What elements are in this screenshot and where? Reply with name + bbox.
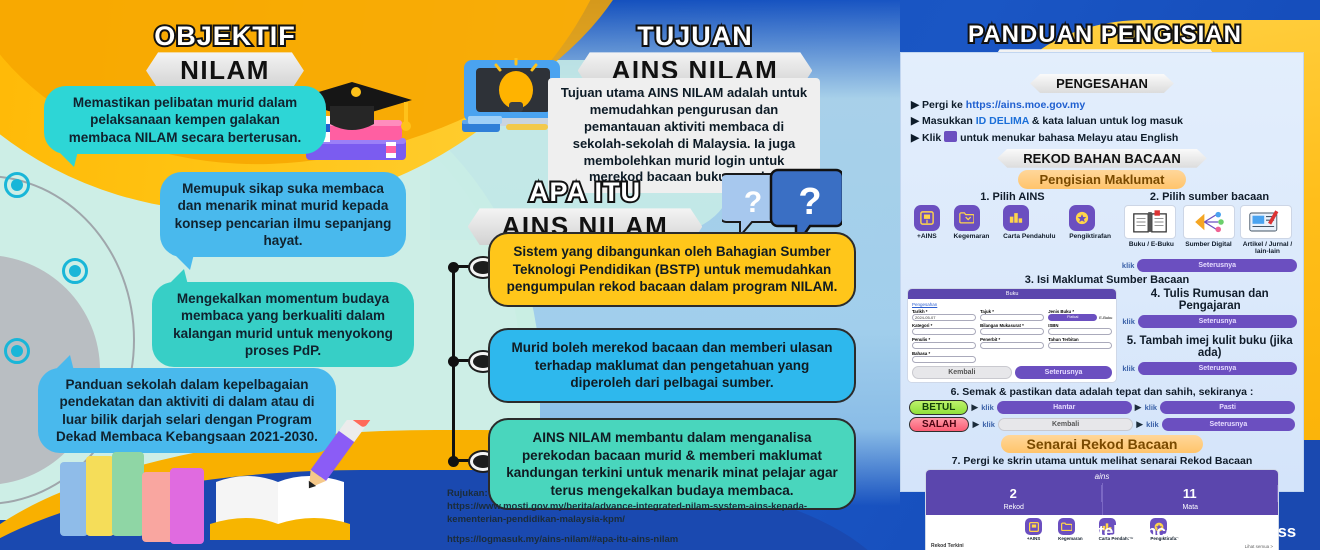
- step-7-label: 7. Pergi ke skrin utama untuk melihat se…: [901, 455, 1303, 467]
- objektif-bubble-3: Mengekalkan momentum budaya membaca yang…: [152, 282, 414, 367]
- arrow-icon-4: ▶: [1136, 419, 1143, 430]
- tag-salah: SALAH: [909, 417, 969, 432]
- app-stat-mata-value: 11: [1103, 485, 1279, 502]
- bullet-arrow-icon-3: ▶: [911, 132, 919, 144]
- ains-icon-label-0: +AINS: [914, 233, 940, 240]
- decorative-dot-2: [62, 258, 88, 284]
- app-recent-label: Rekod Terkini: [931, 543, 964, 549]
- bullet-2: ▶ Masukkan ID DELIMA & kata laluan untuk…: [911, 113, 1303, 129]
- bullet-1: ▶ Pergi ke https://ains.moe.gov.my: [911, 97, 1303, 113]
- step-6-label: 6. Semak & pastikan data adalah tepat da…: [901, 386, 1303, 398]
- form-screenshot: Buku Pengesahan Tarikh * 2024-05-07 Taju…: [907, 288, 1117, 383]
- step-4-label: 4. Tulis Rumusan dan Pengajaran: [1122, 288, 1297, 312]
- app-stat-rekod-label: Rekod: [926, 502, 1102, 513]
- apa-itu-heading-top: APA ITU: [455, 178, 715, 206]
- step-1-label: 1. Pilih AINS: [907, 191, 1118, 203]
- form-input-penerbit[interactable]: [980, 342, 1044, 349]
- section-senarai-rekod-bacaan: Senarai Rekod Bacaan: [1001, 435, 1204, 453]
- ains-icon-item-3[interactable]: Pengiktirafan: [1069, 205, 1111, 240]
- app-icon-label-0: +AINS: [1025, 537, 1042, 542]
- source-item-1[interactable]: Sumber Digital: [1183, 205, 1235, 256]
- language-toggle-icon[interactable]: [944, 131, 957, 142]
- bullet-arrow-icon-2: ▶: [911, 115, 919, 127]
- form-field-4: Bilangan Mukasurat *: [980, 323, 1044, 335]
- apa-itu-card-2: Murid boleh merekod bacaan dan memberi u…: [488, 328, 856, 403]
- source-item-2[interactable]: Artikel / Jurnal / lain-lain: [1240, 205, 1294, 256]
- open-book-icon: [1124, 205, 1176, 239]
- step-2-label: 2. Pilih sumber bacaan: [1122, 191, 1297, 203]
- svg-text:?: ?: [744, 186, 762, 219]
- arrow-icon-2: ▶: [1135, 402, 1142, 413]
- form-radio-fizikal[interactable]: Fizikal: [1048, 314, 1097, 321]
- decorative-dot-3: [4, 338, 30, 364]
- form-field-1: Tajuk *: [980, 309, 1044, 321]
- app-stat-mata: 11 Mata: [1103, 483, 1279, 515]
- reference-link-2[interactable]: https://logmasuk.my/ains-nilam/#apa-itu-…: [447, 534, 817, 547]
- step-3-label: 3. Isi Maklumat Sumber Bacaan: [901, 274, 1303, 286]
- bullet-3: ▶ Klik untuk menukar bahasa Melayu atau …: [911, 130, 1303, 146]
- form-input-bahasa[interactable]: [912, 356, 976, 363]
- seterusnya-button-sumber[interactable]: Seterusnya: [1137, 259, 1297, 272]
- tag-betul: BETUL: [909, 400, 968, 415]
- form-input-isbn[interactable]: [1048, 328, 1112, 335]
- arrow-icon-3: ▶: [972, 419, 979, 430]
- source-label-0: Buku / E-Buku: [1124, 241, 1178, 248]
- network-icon: [1183, 205, 1235, 239]
- kembali-button[interactable]: Kembali: [998, 418, 1133, 431]
- klik-label-pasti: klik: [1145, 403, 1158, 412]
- section-rekod-bahan-bacaan: REKOD BAHAN BACAAN: [997, 149, 1206, 168]
- books-pencil-illustration: [56, 420, 386, 545]
- app-name: ains: [926, 470, 1278, 483]
- pasti-button[interactable]: Pasti: [1160, 401, 1295, 414]
- form-radio-ebuku[interactable]: E-Buku: [1099, 315, 1112, 320]
- klik-label-seterusnya2: klik: [1146, 420, 1159, 429]
- objektif-heading: OBJEKTIF NILAM: [60, 22, 390, 89]
- seterusnya-button-salah[interactable]: Seterusnya: [1162, 418, 1295, 431]
- decorative-dot-1: [4, 172, 30, 198]
- form-field-2: Jenis Buku * Fizikal E-Buku: [1048, 309, 1112, 321]
- source-item-0[interactable]: Buku / E-Buku: [1124, 205, 1178, 256]
- pengesahan-bullets: ▶ Pergi ke https://ains.moe.gov.my ▶ Mas…: [911, 97, 1303, 146]
- app-stats: 2 Rekod 11 Mata: [926, 483, 1278, 515]
- section-pengesahan: PENGESAHAN: [1030, 74, 1174, 93]
- app-stat-rekod-value: 2: [926, 485, 1102, 502]
- form-field-0: Tarikh * 2024-05-07: [912, 309, 976, 321]
- klik-label-kembali: klik: [982, 420, 995, 429]
- ains-icon-item-2[interactable]: Carta Pendahulu: [1003, 205, 1055, 240]
- form-input-tajuk[interactable]: [980, 314, 1044, 321]
- app-stat-mata-label: Mata: [1103, 502, 1279, 513]
- badge-star-icon: [1069, 205, 1095, 231]
- form-field-7: Penerbit *: [980, 337, 1044, 349]
- ains-icon-label-1: Kegemaran: [954, 233, 990, 240]
- klik-label-rumusan: klik: [1122, 317, 1135, 326]
- form-field-5: ISBN: [1048, 323, 1112, 335]
- references: Rujukan: https://www.mosti.gov.my/berita…: [447, 488, 817, 547]
- bullet-arrow-icon: ▶: [911, 99, 919, 111]
- form-input-mukasurat[interactable]: [980, 328, 1044, 335]
- bullet-3-post: untuk menukar bahasa Melayu atau English: [960, 132, 1178, 144]
- source-label-1: Sumber Digital: [1183, 241, 1233, 248]
- klik-label-hantar: klik: [981, 403, 994, 412]
- app-see-all-link[interactable]: Lihat semua >: [1245, 544, 1273, 549]
- form-field-9: Bahasa *: [912, 351, 976, 363]
- klik-label-sumber: klik: [1122, 261, 1135, 270]
- app-stat-rekod: 2 Rekod: [926, 483, 1103, 515]
- bullet-2-pre: Masukkan: [922, 115, 976, 127]
- folder-heart-icon: [954, 205, 980, 231]
- apa-itu-card-1: Sistem yang dibangunkan oleh Bahagian Su…: [488, 232, 856, 307]
- panduan-heading-top: PANDUAN PENGISIAN: [930, 22, 1280, 47]
- ains-icon-label-2: Carta Pendahulu: [1003, 233, 1055, 240]
- form-input-penulis[interactable]: [912, 342, 976, 349]
- form-seterusnya-button[interactable]: Seterusnya: [1015, 366, 1113, 379]
- ains-icon-label-3: Pengiktirafan: [1069, 233, 1111, 240]
- hantar-button[interactable]: Hantar: [997, 401, 1132, 414]
- article-icon: [1240, 205, 1292, 239]
- save-icon-app: [1025, 518, 1042, 535]
- bullet-1-pre: Pergi ke: [922, 99, 966, 111]
- klik-label-imej: klik: [1122, 364, 1135, 373]
- form-link[interactable]: Pengesahan: [912, 302, 1112, 307]
- section-pengisian-maklumat: Pengisian Maklumat: [1018, 170, 1187, 189]
- form-header: Buku: [908, 289, 1116, 299]
- bar-chart-icon: [1003, 205, 1029, 231]
- bullet-3-pre: Klik: [922, 132, 944, 144]
- tujuan-heading-top: TUJUAN: [540, 22, 850, 50]
- svg-text:?: ?: [798, 181, 821, 223]
- objektif-heading-plaque: NILAM: [146, 52, 304, 89]
- ains-icon-item-1[interactable]: Kegemaran: [954, 205, 990, 240]
- save-icon: [914, 205, 940, 231]
- panduan-panel: PENGESAHAN ▶ Pergi ke https://ains.moe.g…: [900, 52, 1304, 492]
- objektif-heading-top: OBJEKTIF: [60, 22, 390, 50]
- seterusnya-button-rumusan[interactable]: Seterusnya: [1138, 315, 1297, 328]
- hashtag-footer: #intelligencegrowthsuccess: [1074, 522, 1296, 542]
- form-input-kategori[interactable]: [912, 328, 976, 335]
- form-field-6: Penulis *: [912, 337, 976, 349]
- folder-heart-icon-app: [1058, 518, 1075, 535]
- infographic-poster: OBJEKTIF NILAM Memastikan pelibatan muri…: [0, 0, 1320, 550]
- form-kembali-button[interactable]: Kembali: [912, 366, 1012, 379]
- form-field-3: Kategori *: [912, 323, 976, 335]
- ains-icon-item-0[interactable]: +AINS: [914, 205, 940, 240]
- objektif-bubble-2: Memupuk sikap suka membaca dan menarik m…: [160, 172, 406, 257]
- references-label: Rujukan:: [447, 488, 817, 501]
- ains-url-link[interactable]: https://ains.moe.gov.my: [966, 99, 1085, 111]
- reference-link-1[interactable]: https://www.mosti.gov.my/berita/advance-…: [447, 501, 817, 527]
- app-icon-0[interactable]: +AINS: [1025, 518, 1042, 542]
- seterusnya-button-imej[interactable]: Seterusnya: [1138, 362, 1297, 375]
- form-field-8: Tahun Terbitan: [1048, 337, 1112, 349]
- objektif-bubble-1: Memastikan pelibatan murid dalam pelaksa…: [44, 86, 326, 154]
- id-delima-label: ID DELIMA: [976, 115, 1029, 127]
- form-input-tarikh[interactable]: 2024-05-07: [912, 314, 976, 321]
- arrow-icon-1: ▶: [971, 402, 978, 413]
- step-5-label: 5. Tambah imej kulit buku (jika ada): [1122, 335, 1297, 359]
- source-label-2: Artikel / Jurnal / lain-lain: [1240, 241, 1294, 256]
- form-input-tahun[interactable]: [1048, 342, 1112, 349]
- bullet-2-post: & kata laluan untuk log masuk: [1029, 115, 1183, 127]
